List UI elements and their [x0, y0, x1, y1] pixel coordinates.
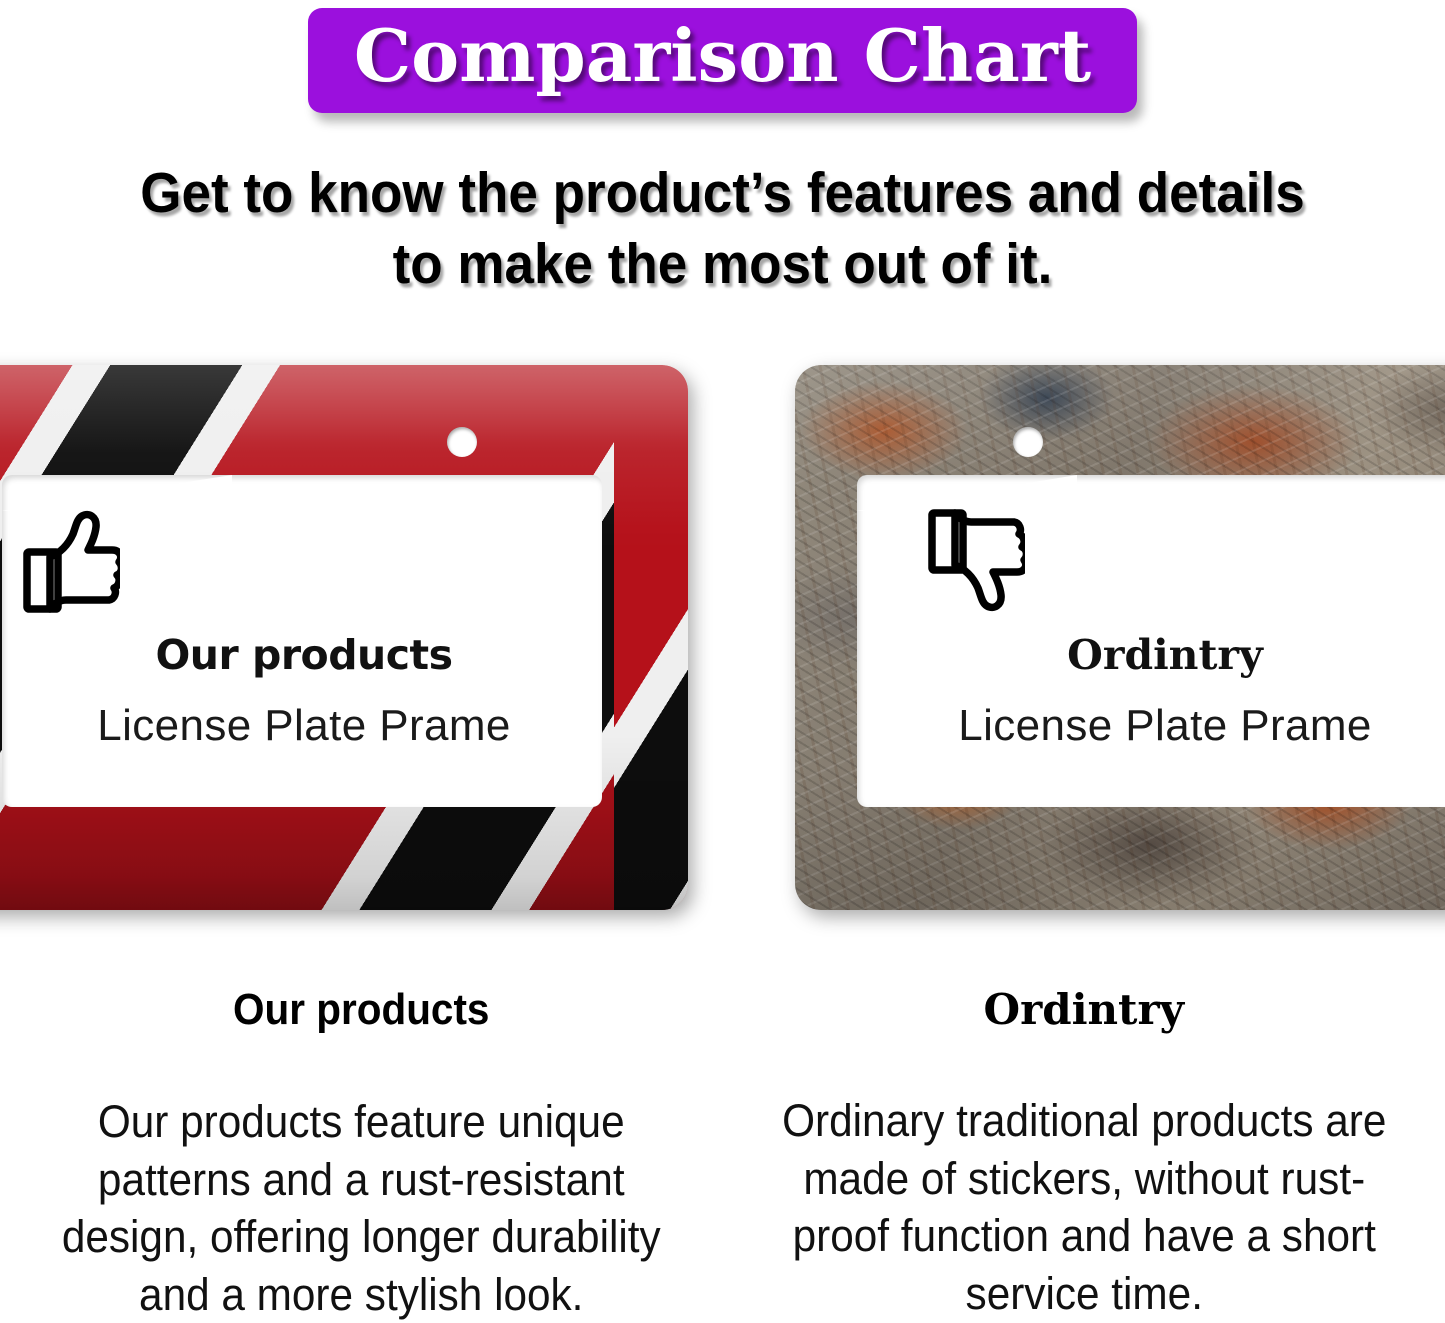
our-frame-content: Our products License Plate Prame: [0, 505, 688, 751]
thumbs-up-icon: [2, 505, 120, 617]
ordinary-product-description-column: Ordintry Ordinary traditional products a…: [723, 985, 1445, 1315]
title-banner: Comparison Chart: [308, 8, 1137, 113]
mounting-hole: [447, 427, 477, 457]
our-product-frame: Our products License Plate Prame: [0, 365, 688, 910]
comparison-descriptions: Our products Our products feature unique…: [0, 985, 1445, 1315]
mounting-hole: [1013, 427, 1043, 457]
thumbs-down-icon: [907, 505, 1025, 617]
ordinary-frame-content: Ordintry License Plate Prame: [795, 505, 1445, 751]
product-frames-row: Our products License Plate Prame Ordintr…: [0, 355, 1445, 925]
title-banner-container: Comparison Chart: [0, 8, 1445, 113]
ordinary-product-heading: Ordintry: [737, 985, 1432, 1034]
ordinary-frame-sublabel: License Plate Prame: [795, 701, 1445, 751]
our-product-body: Our products feature unique patterns and…: [35, 1093, 688, 1323]
our-frame-label: Our products: [0, 631, 688, 679]
ordinary-frame-label: Ordintry: [795, 631, 1445, 679]
our-frame-sublabel: License Plate Prame: [0, 701, 688, 751]
ordinary-product-body: Ordinary traditional products are made o…: [757, 1092, 1410, 1322]
ordinary-product-frame: Ordintry License Plate Prame: [795, 365, 1445, 910]
our-product-description-column: Our products Our products feature unique…: [0, 985, 723, 1315]
page-title: Comparison Chart: [354, 14, 1091, 99]
page-subtitle: Get to know the product’s features and d…: [116, 158, 1330, 301]
our-product-heading: Our products: [42, 985, 681, 1035]
